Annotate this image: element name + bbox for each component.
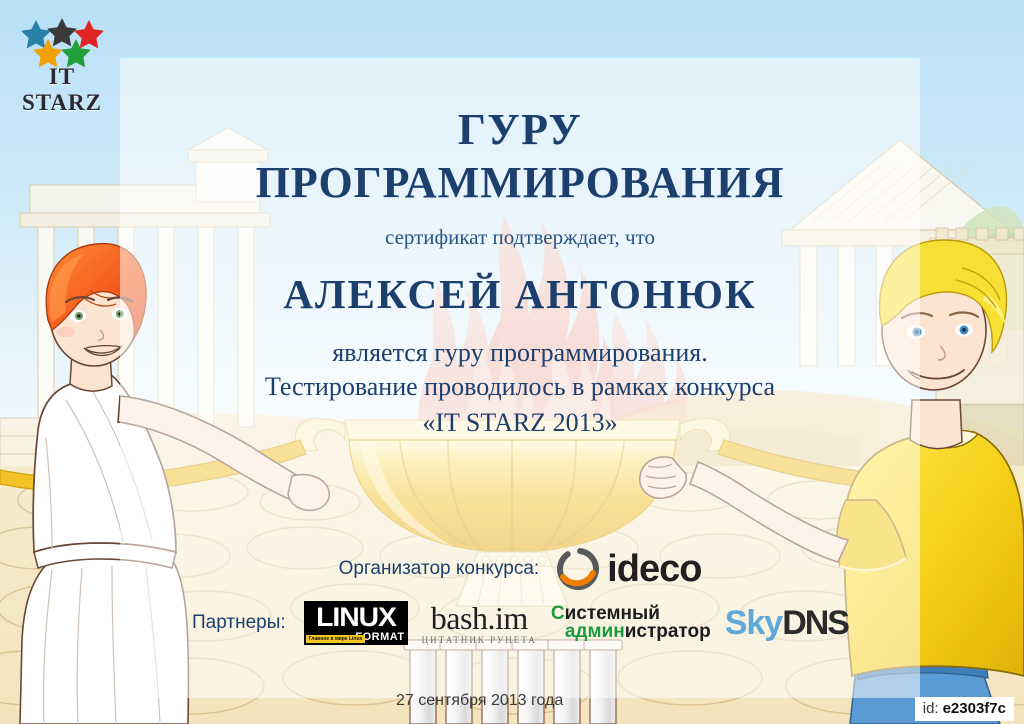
certificate-date: 27 сентября 2013 года (396, 692, 563, 710)
certificate-body-line2: Тестирование проводилось в рамках конкур… (120, 370, 920, 405)
certificate-body-line3: «IT STARZ 2013» (120, 406, 920, 441)
brand-name: IT STARZ (8, 64, 116, 116)
partners-label: Партнеры: (192, 612, 286, 634)
partner-logo-linux-format[interactable]: LINUX FORMAT Главное в мире Linux (304, 601, 408, 645)
linux-format-tagline: Главное в мире Linux (306, 635, 366, 643)
recipient-name: АЛЕКСЕЙ АНТОНЮК (120, 270, 920, 318)
partner-logo-bash-im[interactable]: bash.im ЦИТАТНИК РУНЕТА (422, 602, 537, 645)
brand-logo[interactable]: IT STARZ (8, 12, 116, 96)
bash-im-main: bash.im (431, 602, 528, 634)
skydns-part2: DNS (782, 604, 848, 642)
partner-logo-skydns[interactable]: SkyDNS (725, 606, 848, 640)
sysadmin-line2: администратор (551, 623, 711, 641)
organizer-label: Организатор конкурса: (339, 558, 540, 580)
bash-im-subtitle: ЦИТАТНИК РУНЕТА (422, 635, 537, 645)
certificate-id-label: id: (923, 700, 939, 717)
ideco-wordmark: ideco (607, 550, 701, 588)
sysadmin-part4: истратор (625, 621, 711, 642)
skydns-part1: Sky (725, 604, 783, 642)
ideco-logo[interactable]: ideco (557, 548, 701, 590)
certificate-id-value: e2303f7c (943, 700, 1006, 717)
certificate-body-line1: является гуру программирования. (120, 336, 920, 371)
partner-logo-sysadmin[interactable]: Системный администратор (551, 605, 711, 641)
organizer-row: Организатор конкурса: ideco (120, 548, 920, 590)
stars-icon (8, 12, 116, 70)
ideco-ring-icon (557, 548, 599, 590)
partners-row: Партнеры: LINUX FORMAT Главное в мире Li… (120, 601, 920, 645)
certificate-subtitle: сертификат подтверждает, что (120, 225, 920, 250)
sysadmin-part1: С (551, 603, 565, 624)
certificate-content: ГУРУ ПРОГРАММИРОВАНИЯ сертификат подтвер… (120, 58, 920, 698)
certificate-canvas: IT STARZ ГУРУ ПРОГРАММИРОВАНИЯ сертифика… (0, 0, 1024, 724)
linux-format-main: LINUX (304, 604, 408, 631)
sysadmin-part3: админ (565, 621, 625, 642)
certificate-id-badge: id:e2303f7c (915, 697, 1014, 721)
certificate-title-line2: ПРОГРАММИРОВАНИЯ (120, 161, 920, 205)
certificate-title-line1: ГУРУ (120, 108, 920, 152)
